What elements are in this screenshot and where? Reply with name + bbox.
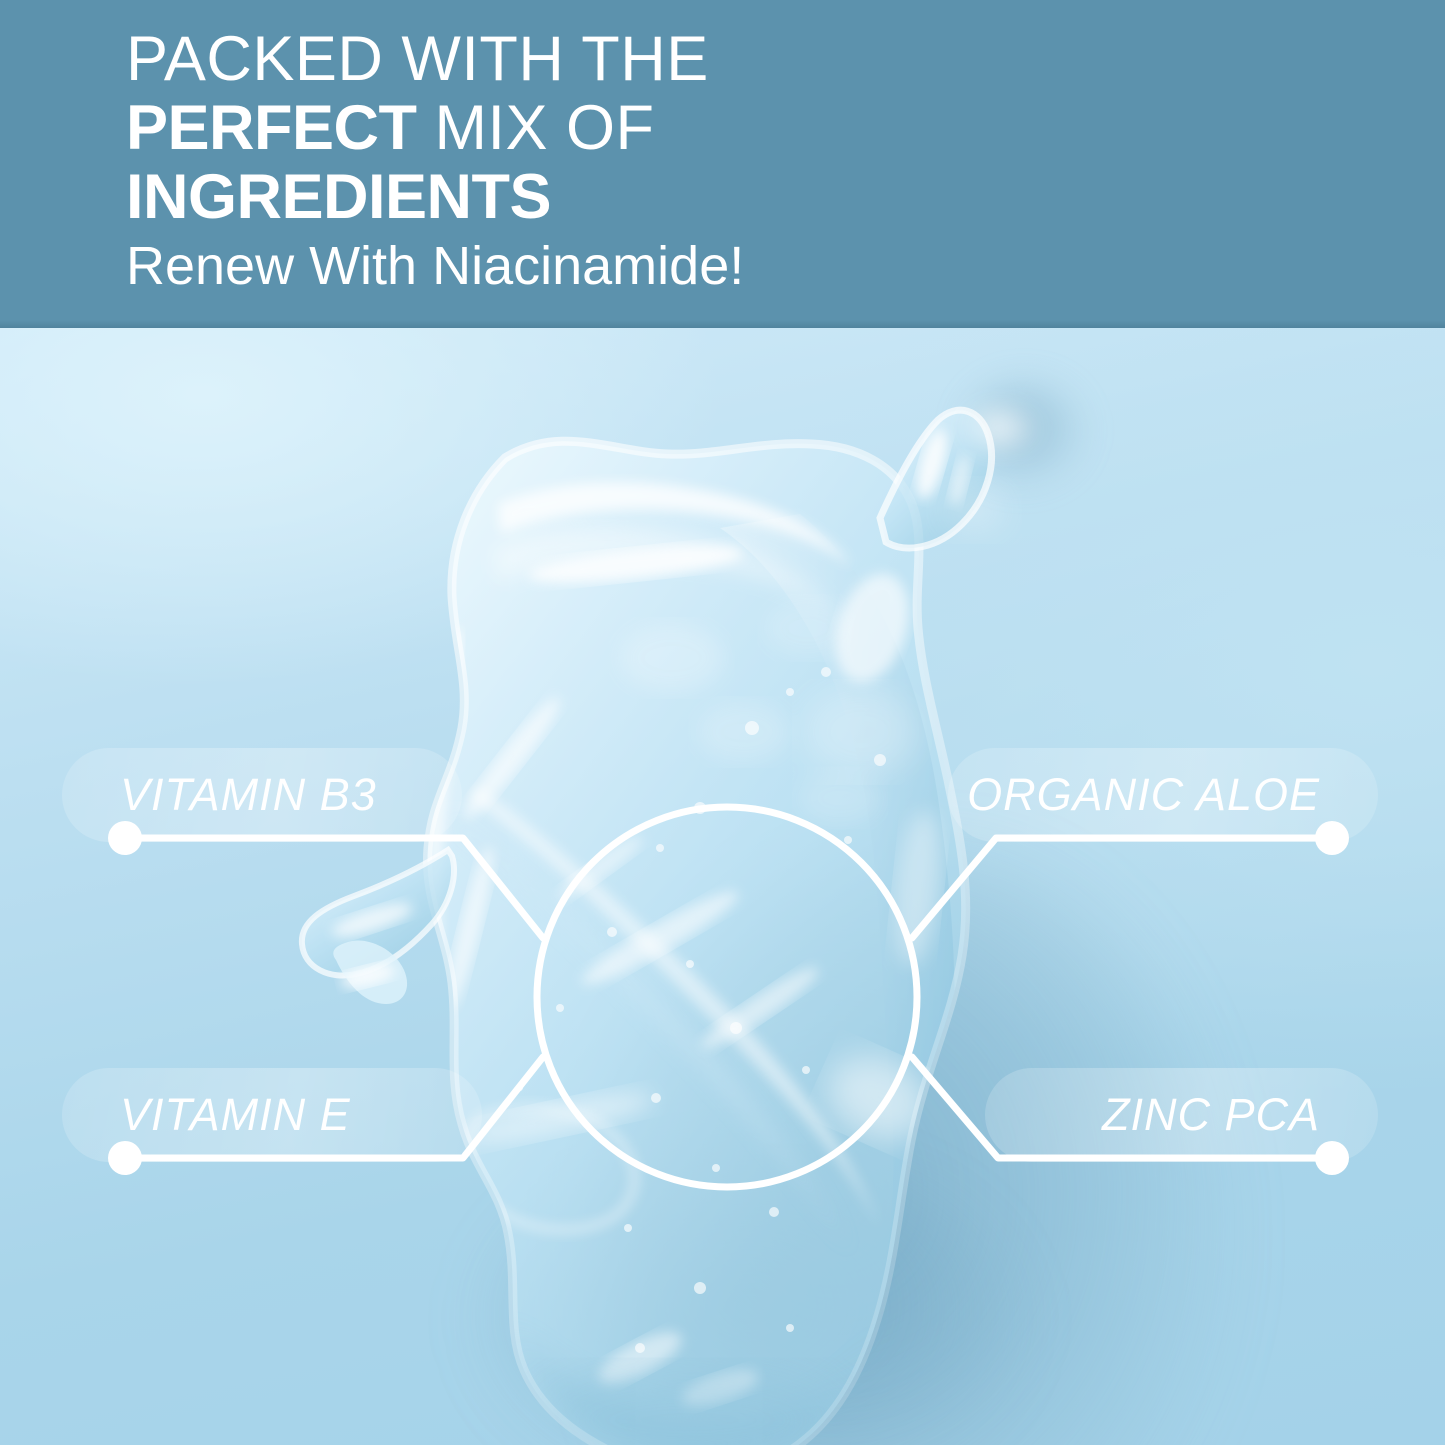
callout-pill-zinc-pca[interactable]: ZINC PCA <box>985 1068 1378 1162</box>
headline-tagline: Renew With Niacinamide! <box>126 239 1226 293</box>
ingredients-infographic: PACKED WITH THE PERFECT MIX OF INGREDIEN… <box>0 0 1445 1445</box>
callout-label-zinc-pca: ZINC PCA <box>1102 1089 1320 1141</box>
callout-pill-vitamin-e[interactable]: VITAMIN E <box>62 1068 482 1162</box>
callout-label-vitamin-b3: VITAMIN B3 <box>120 769 377 821</box>
headline-line-2: PERFECT MIX OF <box>126 97 1226 166</box>
product-photo-background <box>0 328 1445 1445</box>
headline-emphasis: PERFECT <box>126 93 417 163</box>
headline-line-2-rest: MIX OF <box>417 93 655 163</box>
header-band: PACKED WITH THE PERFECT MIX OF INGREDIEN… <box>0 0 1445 328</box>
headline-line-1: PACKED WITH THE <box>126 28 1226 97</box>
callout-label-vitamin-e: VITAMIN E <box>120 1089 351 1141</box>
page-title: PACKED WITH THE PERFECT MIX OF INGREDIEN… <box>126 28 1226 293</box>
headline-line-3: INGREDIENTS <box>126 166 1226 239</box>
header-bottom-shade <box>0 320 1445 328</box>
gel-swatch-image <box>0 328 1445 1445</box>
callout-label-organic-aloe: ORGANIC ALOE <box>967 769 1320 821</box>
callout-pill-organic-aloe[interactable]: ORGANIC ALOE <box>948 748 1378 842</box>
callout-pill-vitamin-b3[interactable]: VITAMIN B3 <box>62 748 462 842</box>
